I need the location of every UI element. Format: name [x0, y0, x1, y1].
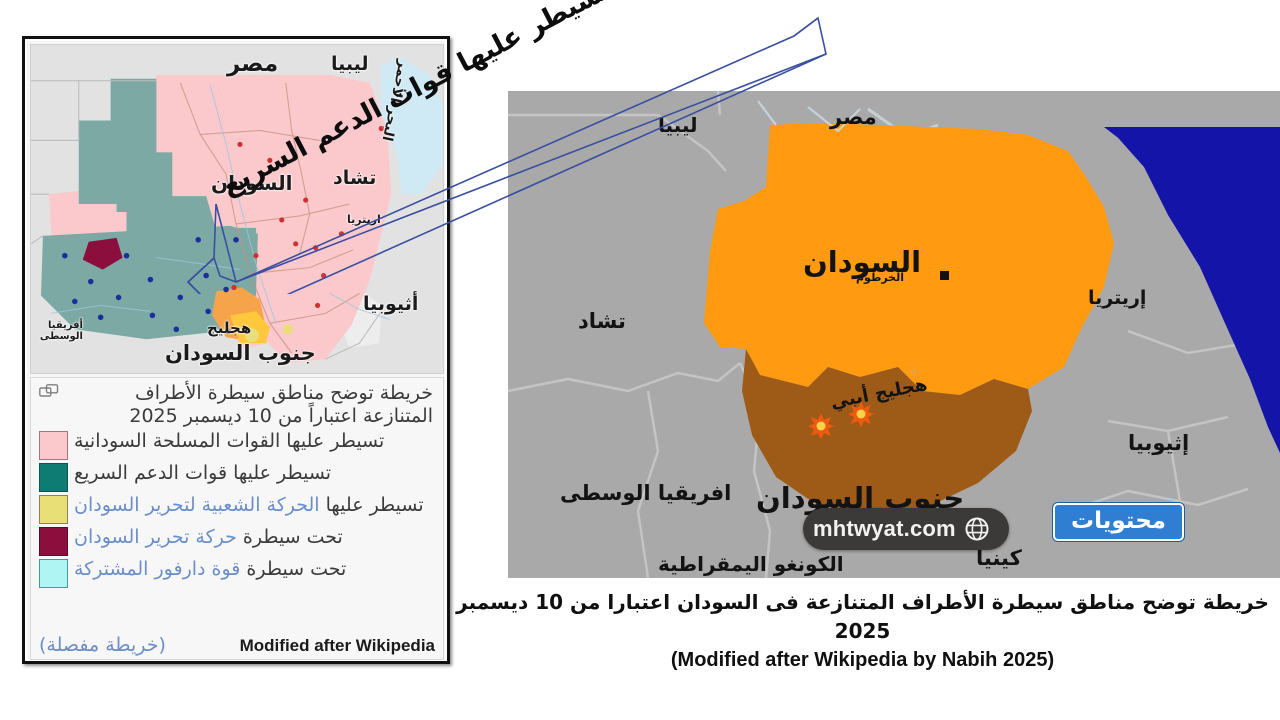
legend-item-splm-link[interactable]: الحركة الشعبية لتحرير السودان: [74, 494, 320, 516]
comment-icon[interactable]: [39, 384, 59, 400]
legend-footer: Modified after Wikipedia (خريطة مفصلة): [39, 634, 435, 656]
simplified-control-map[interactable]: ليبيا مصر تشاد السودان إريتريا إثيوبيا ج…: [508, 91, 1280, 578]
legend-caption: خريطة توضح مناطق سيطرة الأطراف المتنازعة…: [39, 382, 435, 428]
caption-line-arabic: خريطة توضح مناطق سيطرة الأطراف المتنازعة…: [455, 588, 1270, 646]
legend-item-slm-prefix: تحت سيطرة: [237, 526, 343, 548]
modified-after-wikipedia-note: Modified after Wikipedia: [240, 636, 435, 656]
detailed-control-map[interactable]: ليبيا مصر تشاد السودان اريتريا أثيوبيا ج…: [30, 44, 444, 374]
caption-line-attribution: (Modified after Wikipedia by Nabih 2025): [455, 646, 1270, 674]
figure-caption: خريطة توضح مناطق سيطرة الأطراف المتنازعة…: [455, 588, 1270, 674]
map-legend: خريطة توضح مناطق سيطرة الأطراف المتنازعة…: [30, 377, 444, 660]
legend-item-rsf-label: تسيطر عليها قوات الدعم السريع: [74, 462, 331, 484]
legend-swatch-rsf: [39, 463, 68, 492]
conflict-explosion-icon: [808, 413, 834, 439]
legend-item-joint-link[interactable]: قوة دارفور المشتركة: [74, 558, 240, 580]
legend-swatch-joint-darfur-force: [39, 559, 68, 588]
legend-item-splm-prefix: تسيطر عليها: [320, 494, 424, 516]
legend-swatch-splm: [39, 495, 68, 524]
globe-icon: [965, 517, 989, 541]
legend-item-rsf[interactable]: تسيطر عليها قوات الدعم السريع: [39, 462, 435, 492]
site-watermark: mhtwyat.com: [803, 508, 1009, 550]
legend-item-joint-prefix: تحت سيطرة: [240, 558, 346, 580]
legend-swatch-slm: [39, 527, 68, 556]
wikipedia-infobox-panel: ليبيا مصر تشاد السودان اريتريا أثيوبيا ج…: [22, 36, 450, 664]
legend-swatch-saf: [39, 431, 68, 460]
legend-item-splm[interactable]: تسيطر عليها الحركة الشعبية لتحرير السودا…: [39, 494, 435, 524]
screenshot-stage: ليبيا مصر تشاد السودان اريتريا أثيوبيا ج…: [0, 0, 1280, 720]
legend-item-slm-link[interactable]: حركة تحرير السودان: [74, 526, 237, 548]
watermark-text: mhtwyat.com: [813, 516, 956, 542]
legend-item-saf-label: تسيطر عليها القوات المسلحة السودانية: [74, 430, 384, 452]
legend-item-splm-label: تسيطر عليها الحركة الشعبية لتحرير السودا…: [74, 494, 424, 516]
detailed-map-link[interactable]: (خريطة مفصلة): [39, 634, 166, 656]
mhtwyat-badge[interactable]: محتويات: [1053, 503, 1184, 541]
khartoum-marker: [940, 271, 949, 280]
mhtwyat-badge-label: محتويات: [1071, 508, 1166, 534]
legend-item-slm[interactable]: تحت سيطرة حركة تحرير السودان: [39, 526, 435, 556]
conflict-explosion-icon: [848, 401, 874, 427]
legend-item-saf[interactable]: تسيطر عليها القوات المسلحة السودانية: [39, 430, 435, 460]
legend-item-slm-label: تحت سيطرة حركة تحرير السودان: [74, 526, 343, 548]
detailed-map-graphic: [31, 45, 443, 373]
legend-item-joint-darfur-force[interactable]: تحت سيطرة قوة دارفور المشتركة: [39, 558, 435, 588]
legend-item-joint-darfur-force-label: تحت سيطرة قوة دارفور المشتركة: [74, 558, 346, 580]
airport-marker-icon: ✛: [908, 363, 921, 381]
